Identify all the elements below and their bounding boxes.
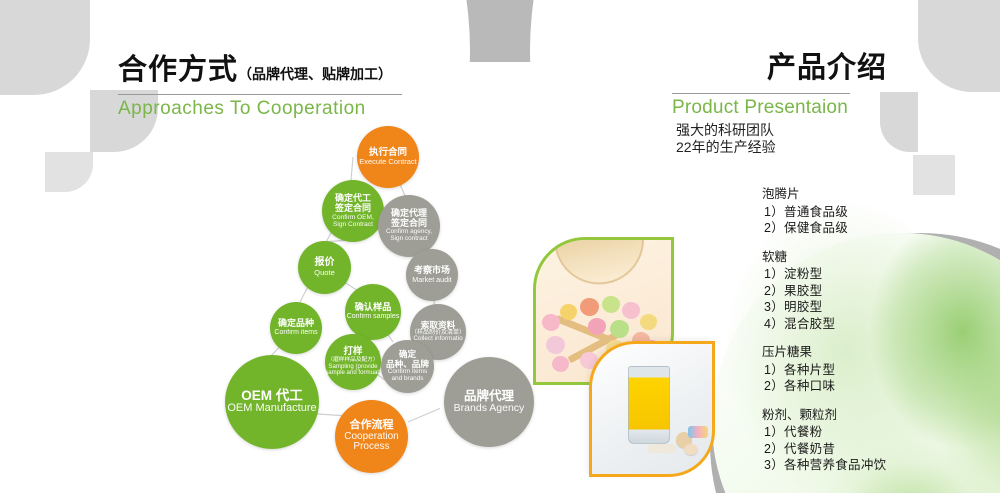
bubble-label-en: Confirm samples (347, 313, 400, 321)
product-group: 压片糖果1）各种片型2）各种口味 (762, 344, 962, 395)
candy (542, 314, 560, 331)
subtitle-line-1: 强大的科研团队 (676, 122, 887, 139)
effervescent-tablet-3 (684, 444, 698, 455)
bubble-label-en: Confirm agency,Sign contract (386, 229, 432, 243)
tablet-wrapper (688, 426, 708, 438)
product-group: 粉剂、颗粒剂1）代餐粉2）代餐奶昔3）各种营养食品冲饮 (762, 407, 962, 474)
bubble-confirm-items[interactable]: 确定品种Confirm items (270, 302, 322, 354)
bubble-confirm-oem[interactable]: 确定代工签定合同Confirm OEM,Sign Contract (322, 180, 384, 242)
product-group: 泡腾片1）普通食品级2）保健食品级 (762, 186, 962, 237)
bubble-label-en: Market audit (412, 276, 452, 284)
right-heading-en: Product Presentaion (672, 97, 887, 119)
right-heading-divider (672, 93, 850, 94)
product-group-title: 泡腾片 (762, 186, 962, 203)
bubble-label-cn: 确定代工签定合同 (335, 194, 371, 213)
left-heading-cn-paren: （品牌代理、贴牌加工） (238, 66, 392, 82)
product-item: 2）保健食品级 (762, 220, 962, 237)
decor-square-top-right-large (918, 0, 1000, 92)
bubble-execute-contract[interactable]: 执行合同Execute Contract (357, 126, 419, 188)
bubble-label-en: Brands Agency (454, 403, 525, 414)
product-item: 4）混合胶型 (762, 316, 962, 333)
bubble-label-cn: 打样 (343, 347, 362, 357)
candy (622, 302, 640, 319)
right-panel-heading: 产品介绍 Product Presentaion 强大的科研团队 22年的生产经… (672, 44, 887, 156)
bubble-label-en: CooperationProcess (344, 432, 398, 454)
bubble-cooperation-process[interactable]: 合作流程CooperationProcess (335, 400, 408, 473)
bubble-label-en: OEM Manufacture (227, 403, 316, 415)
effervescent-tablet-2 (648, 444, 676, 453)
drink-photo (589, 341, 715, 477)
left-panel-heading: 合作方式（品牌代理、贴牌加工） Approaches To Cooperatio… (118, 46, 408, 120)
candy (552, 356, 569, 372)
connector-line (408, 402, 440, 422)
product-item: 1）代餐粉 (762, 424, 962, 441)
product-item: 2）各种口味 (762, 378, 962, 395)
bubble-label-en: Collect informatio (413, 336, 462, 343)
bubble-label-en: Confirm itemsand brands (388, 369, 427, 383)
candy (610, 320, 629, 338)
bubble-label-cn: 确认样品 (355, 303, 392, 313)
bubble-label-cn: 确定品种 (278, 319, 314, 329)
subtitle-line-2: 22年的生产经验 (676, 139, 887, 156)
bubble-quote[interactable]: 报价Quote (298, 241, 351, 294)
candy (580, 298, 599, 316)
decor-square-top-left-large (0, 0, 90, 95)
product-item: 1）各种片型 (762, 362, 962, 379)
bubble-label-cn: 合作流程 (350, 420, 394, 432)
left-heading-cn-main: 合作方式 (118, 54, 238, 86)
product-item: 2）果胶型 (762, 283, 962, 300)
bubble-label-en: Quote (314, 269, 335, 277)
product-item: 3）各种营养食品冲饮 (762, 457, 962, 474)
bubble-confirm-brands[interactable]: 确定品种、品牌Confirm itemsand brands (381, 340, 434, 393)
bubble-label-cn: 品牌代理 (464, 390, 514, 404)
product-list: 泡腾片1）普通食品级2）保健食品级软糖1）淀粉型2）果胶型3）明胶型4）混合胶型… (762, 186, 962, 486)
cooperation-flow-diagram: 执行合同Execute Contract确定代工签定合同Confirm OEM,… (110, 112, 440, 487)
right-heading-subtitle: 强大的科研团队 22年的生产经验 (672, 122, 887, 156)
bubble-label-cn: 索取资料 (421, 321, 455, 330)
bubble-label-cn: 确定代理签定合同 (391, 209, 427, 228)
product-group-title: 软糖 (762, 249, 962, 266)
left-heading-divider (118, 94, 402, 95)
bubble-label-en: Execute Contract (359, 158, 417, 166)
bubble-label-en: Sampling (providesample and formual) (325, 364, 381, 377)
bubble-label-en: Confirm items (274, 329, 317, 337)
candy-jar (554, 237, 653, 293)
juice-glass (628, 366, 670, 444)
candy (560, 304, 577, 320)
right-heading-cn: 产品介绍 (672, 44, 887, 86)
bubble-market-audit[interactable]: 考察市场Market audit (406, 249, 458, 301)
candy (588, 318, 606, 335)
candy (602, 296, 620, 313)
brochure-page: 合作方式（品牌代理、贴牌加工） Approaches To Cooperatio… (0, 0, 1000, 493)
candy (640, 314, 657, 330)
product-group: 软糖1）淀粉型2）果胶型3）明胶型4）混合胶型 (762, 249, 962, 333)
candy (546, 336, 565, 354)
bubble-label-en: Confirm OEM,Sign Contract (332, 214, 374, 228)
product-group-title: 压片糖果 (762, 344, 962, 361)
decor-square-top-left-small (45, 152, 93, 192)
bubble-sampling[interactable]: 打样（磨样样品及配方）Sampling (providesample and f… (325, 334, 381, 390)
bubble-confirm-agency[interactable]: 确定代理签定合同Confirm agency,Sign contract (378, 195, 440, 257)
product-item: 1）普通食品级 (762, 204, 962, 221)
product-item: 1）淀粉型 (762, 266, 962, 283)
bubble-confirm-samples[interactable]: 确认样品Confirm samples (345, 284, 401, 340)
bubble-brands-agency[interactable]: 品牌代理Brands Agency (444, 357, 534, 447)
bubble-oem-manufacture[interactable]: OEM 代工OEM Manufacture (225, 355, 319, 449)
bubble-label-cn: OEM 代工 (241, 389, 303, 404)
product-item: 3）明胶型 (762, 299, 962, 316)
product-item: 2）代餐奶昔 (762, 441, 962, 458)
product-group-title: 粉剂、颗粒剂 (762, 407, 962, 424)
bubble-label-cn: 确定品种、品牌 (386, 350, 429, 369)
drink-photo-content (592, 344, 712, 474)
left-heading-cn: 合作方式（品牌代理、贴牌加工） (118, 46, 408, 88)
